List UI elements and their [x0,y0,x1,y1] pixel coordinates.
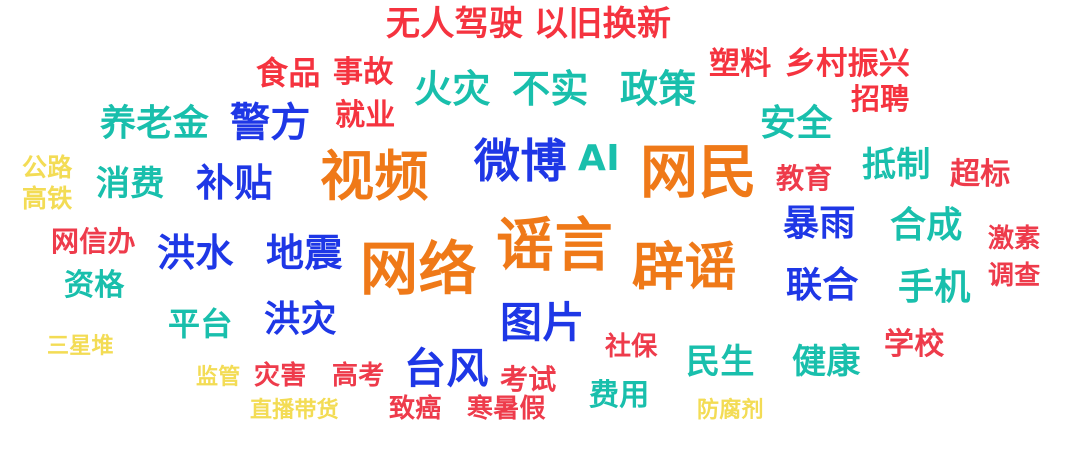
cloud-word[interactable]: 考试 [500,366,557,394]
cloud-word[interactable]: 致癌 [389,396,442,422]
cloud-word[interactable]: 手机 [898,270,971,306]
cloud-word[interactable]: 视频 [320,150,429,204]
cloud-word[interactable]: 网络 [360,240,477,298]
cloud-word[interactable]: 健康 [792,345,861,379]
cloud-word[interactable]: 暴雨 [783,206,856,242]
cloud-word[interactable]: 事故 [333,58,394,88]
cloud-word[interactable]: 谣言 [496,216,613,274]
cloud-word[interactable]: 补贴 [196,164,273,202]
cloud-word[interactable]: 不实 [512,70,589,108]
cloud-word[interactable]: 三星堆 [47,336,114,358]
cloud-word[interactable]: 无人驾驶 [386,7,523,41]
cloud-word[interactable]: 联合 [786,268,859,304]
cloud-word[interactable]: 高考 [332,363,385,389]
cloud-word[interactable]: 公路 [22,155,73,180]
cloud-word[interactable]: 辟谣 [632,242,737,294]
cloud-word[interactable]: 寒暑假 [467,396,546,422]
cloud-word[interactable]: 超标 [950,160,1011,190]
cloud-word[interactable]: 图片 [500,302,585,344]
cloud-word[interactable]: 警方 [230,103,311,143]
cloud-word[interactable]: 激素 [988,226,1041,252]
word-cloud-canvas: 无人驾驶以旧换新食品事故火灾不实政策塑料乡村振兴招聘养老金警方就业安全微博AI网… [0,0,1066,465]
cloud-word[interactable]: 养老金 [100,106,209,142]
cloud-word[interactable]: 合成 [890,208,963,244]
cloud-word[interactable]: 费用 [589,381,650,411]
cloud-word[interactable]: 食品 [256,57,321,89]
cloud-word[interactable]: 抵制 [862,148,931,182]
cloud-word[interactable]: 平台 [168,308,233,340]
cloud-word[interactable]: AI [578,141,620,177]
cloud-word[interactable]: 监管 [196,367,240,389]
cloud-word[interactable]: 民生 [686,345,755,379]
cloud-word[interactable]: 学校 [884,330,945,360]
cloud-word[interactable]: 地震 [266,234,343,272]
cloud-word[interactable]: 塑料 [709,49,772,80]
cloud-word[interactable]: 政策 [620,70,697,108]
cloud-word[interactable]: 消费 [96,167,165,201]
cloud-word[interactable]: 微博 [474,138,567,184]
cloud-word[interactable]: 洪水 [157,234,234,272]
cloud-word[interactable]: 社保 [605,334,658,360]
cloud-word[interactable]: 高铁 [22,186,73,211]
cloud-word[interactable]: 台风 [404,348,489,390]
cloud-word[interactable]: 教育 [776,165,833,193]
cloud-word[interactable]: 灾害 [254,363,307,389]
cloud-word[interactable]: 调查 [988,263,1041,289]
cloud-word[interactable]: 防腐剂 [697,400,764,422]
cloud-word[interactable]: 洪灾 [264,302,337,338]
cloud-word[interactable]: 网信办 [51,228,136,256]
cloud-word[interactable]: 乡村振兴 [785,49,910,80]
cloud-word[interactable]: 资格 [64,271,125,301]
cloud-word[interactable]: 直播带货 [250,400,339,422]
cloud-word[interactable]: 就业 [335,101,396,131]
cloud-word[interactable]: 招聘 [851,85,910,114]
cloud-word[interactable]: 网民 [640,143,757,201]
cloud-word[interactable]: 火灾 [414,70,491,108]
cloud-word[interactable]: 安全 [760,106,833,142]
cloud-word[interactable]: 以旧换新 [534,7,671,41]
